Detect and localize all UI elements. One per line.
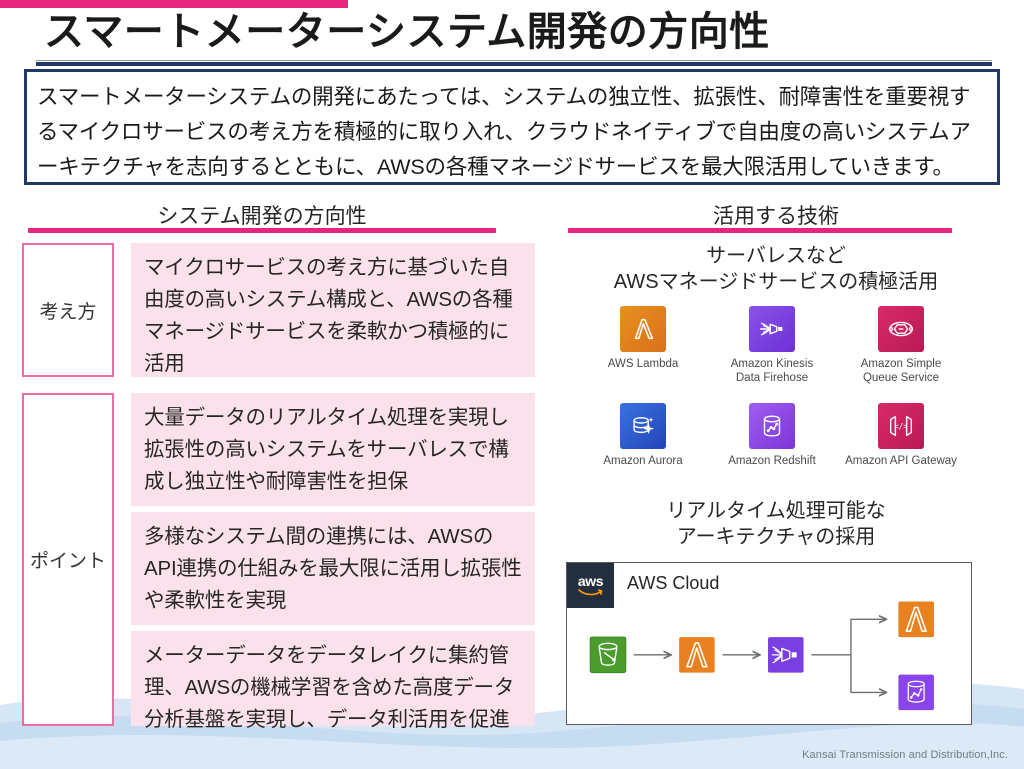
amazon-kinesis-data-firehose-icon — [749, 306, 795, 352]
aws-service-redshift[interactable]: Amazon Redshift — [713, 403, 831, 468]
text-block-point-2: 多様なシステム間の連携には、AWSのAPI連携の仕組みを最大限に活用し拡張性や柔… — [131, 512, 535, 625]
amazon-api-gateway-icon: </> — [878, 403, 924, 449]
node-aws-lambda-1 — [679, 637, 715, 673]
text-block-point-3: メーターデータをデータレイクに集約管理、AWSの機械学習を含めた高度データ分析基… — [131, 631, 535, 726]
node-aws-lambda-2 — [898, 602, 934, 638]
amazon-aurora-icon — [620, 403, 666, 449]
subsection-heading-line-2: AWSマネージドサービスの積極活用 — [576, 269, 976, 295]
title-rule-thin — [36, 60, 992, 61]
aws-service-label: Amazon SimpleQueue Service — [861, 357, 942, 385]
node-kinesis-firehose — [768, 637, 804, 673]
aws-service-label: Amazon Aurora — [603, 454, 682, 468]
subsection-heading-line-2: アーキテクチャの採用 — [576, 524, 976, 550]
row-label-kangaekata: 考え方 — [22, 243, 114, 377]
aws-service-icon-grid: AWS Lambda — [576, 306, 976, 468]
amazon-sqs-icon — [878, 306, 924, 352]
aws-lambda-icon — [620, 306, 666, 352]
slide-root: スマートメーターシステム開発の方向性 スマートメーターシステムの開発にあたっては… — [0, 0, 1024, 769]
row-label-point: ポイント — [22, 393, 114, 726]
aws-service-kinesis-firehose[interactable]: Amazon KinesisData Firehose — [713, 306, 831, 385]
section-header-left: システム開発の方向性 — [28, 200, 496, 230]
subsection-heading-serverless: サーバレスなど AWSマネージドサービスの積極活用 — [576, 243, 976, 295]
subsection-heading-line-1: リアルタイム処理可能な — [576, 498, 976, 524]
aws-service-api-gateway[interactable]: </> Amazon API Gateway — [842, 403, 960, 468]
aws-service-row-1: AWS Lambda — [584, 306, 960, 385]
architecture-canvas — [567, 563, 971, 724]
aws-cloud-architecture-diagram: aws AWS Cloud — [566, 562, 972, 725]
title-rule-thick — [36, 62, 992, 66]
summary-box: スマートメーターシステムの開発にあたっては、システムの独立性、拡張性、耐障害性を… — [24, 69, 1000, 185]
aws-service-aurora[interactable]: Amazon Aurora — [584, 403, 702, 468]
node-amazon-redshift — [898, 675, 934, 711]
svg-text:</>: </> — [894, 422, 908, 431]
text-block-point-1: 大量データのリアルタイム処理を実現し拡張性の高いシステムをサーバレスで構成し独立… — [131, 393, 535, 506]
node-amazon-s3 — [590, 637, 626, 673]
page-title: スマートメーターシステム開発の方向性 — [44, 8, 770, 56]
aws-service-label: AWS Lambda — [608, 357, 679, 371]
aws-service-label: Amazon Redshift — [728, 454, 816, 468]
aws-service-lambda[interactable]: AWS Lambda — [584, 306, 702, 385]
subsection-heading-realtime: リアルタイム処理可能な アーキテクチャの採用 — [576, 498, 976, 550]
aws-service-label: Amazon KinesisData Firehose — [731, 357, 813, 385]
aws-service-row-2: Amazon Aurora — [584, 403, 960, 468]
amazon-redshift-icon — [749, 403, 795, 449]
text-block-kangaekata-1: マイクロサービスの考え方に基づいた自由度の高いシステム構成と、AWSの各種マネー… — [131, 243, 535, 377]
subsection-heading-line-1: サーバレスなど — [576, 243, 976, 269]
aws-service-sqs[interactable]: Amazon SimpleQueue Service — [842, 306, 960, 385]
aws-service-label: Amazon API Gateway — [845, 454, 957, 468]
section-header-right: 活用する技術 — [576, 200, 976, 230]
section-rule-left — [28, 228, 496, 233]
section-rule-right — [568, 228, 952, 233]
footer-company-name: Kansai Transmission and Distribution,Inc… — [802, 749, 1008, 761]
summary-text: スマートメーターシステムの開発にあたっては、システムの独立性、拡張性、耐障害性を… — [37, 80, 989, 185]
